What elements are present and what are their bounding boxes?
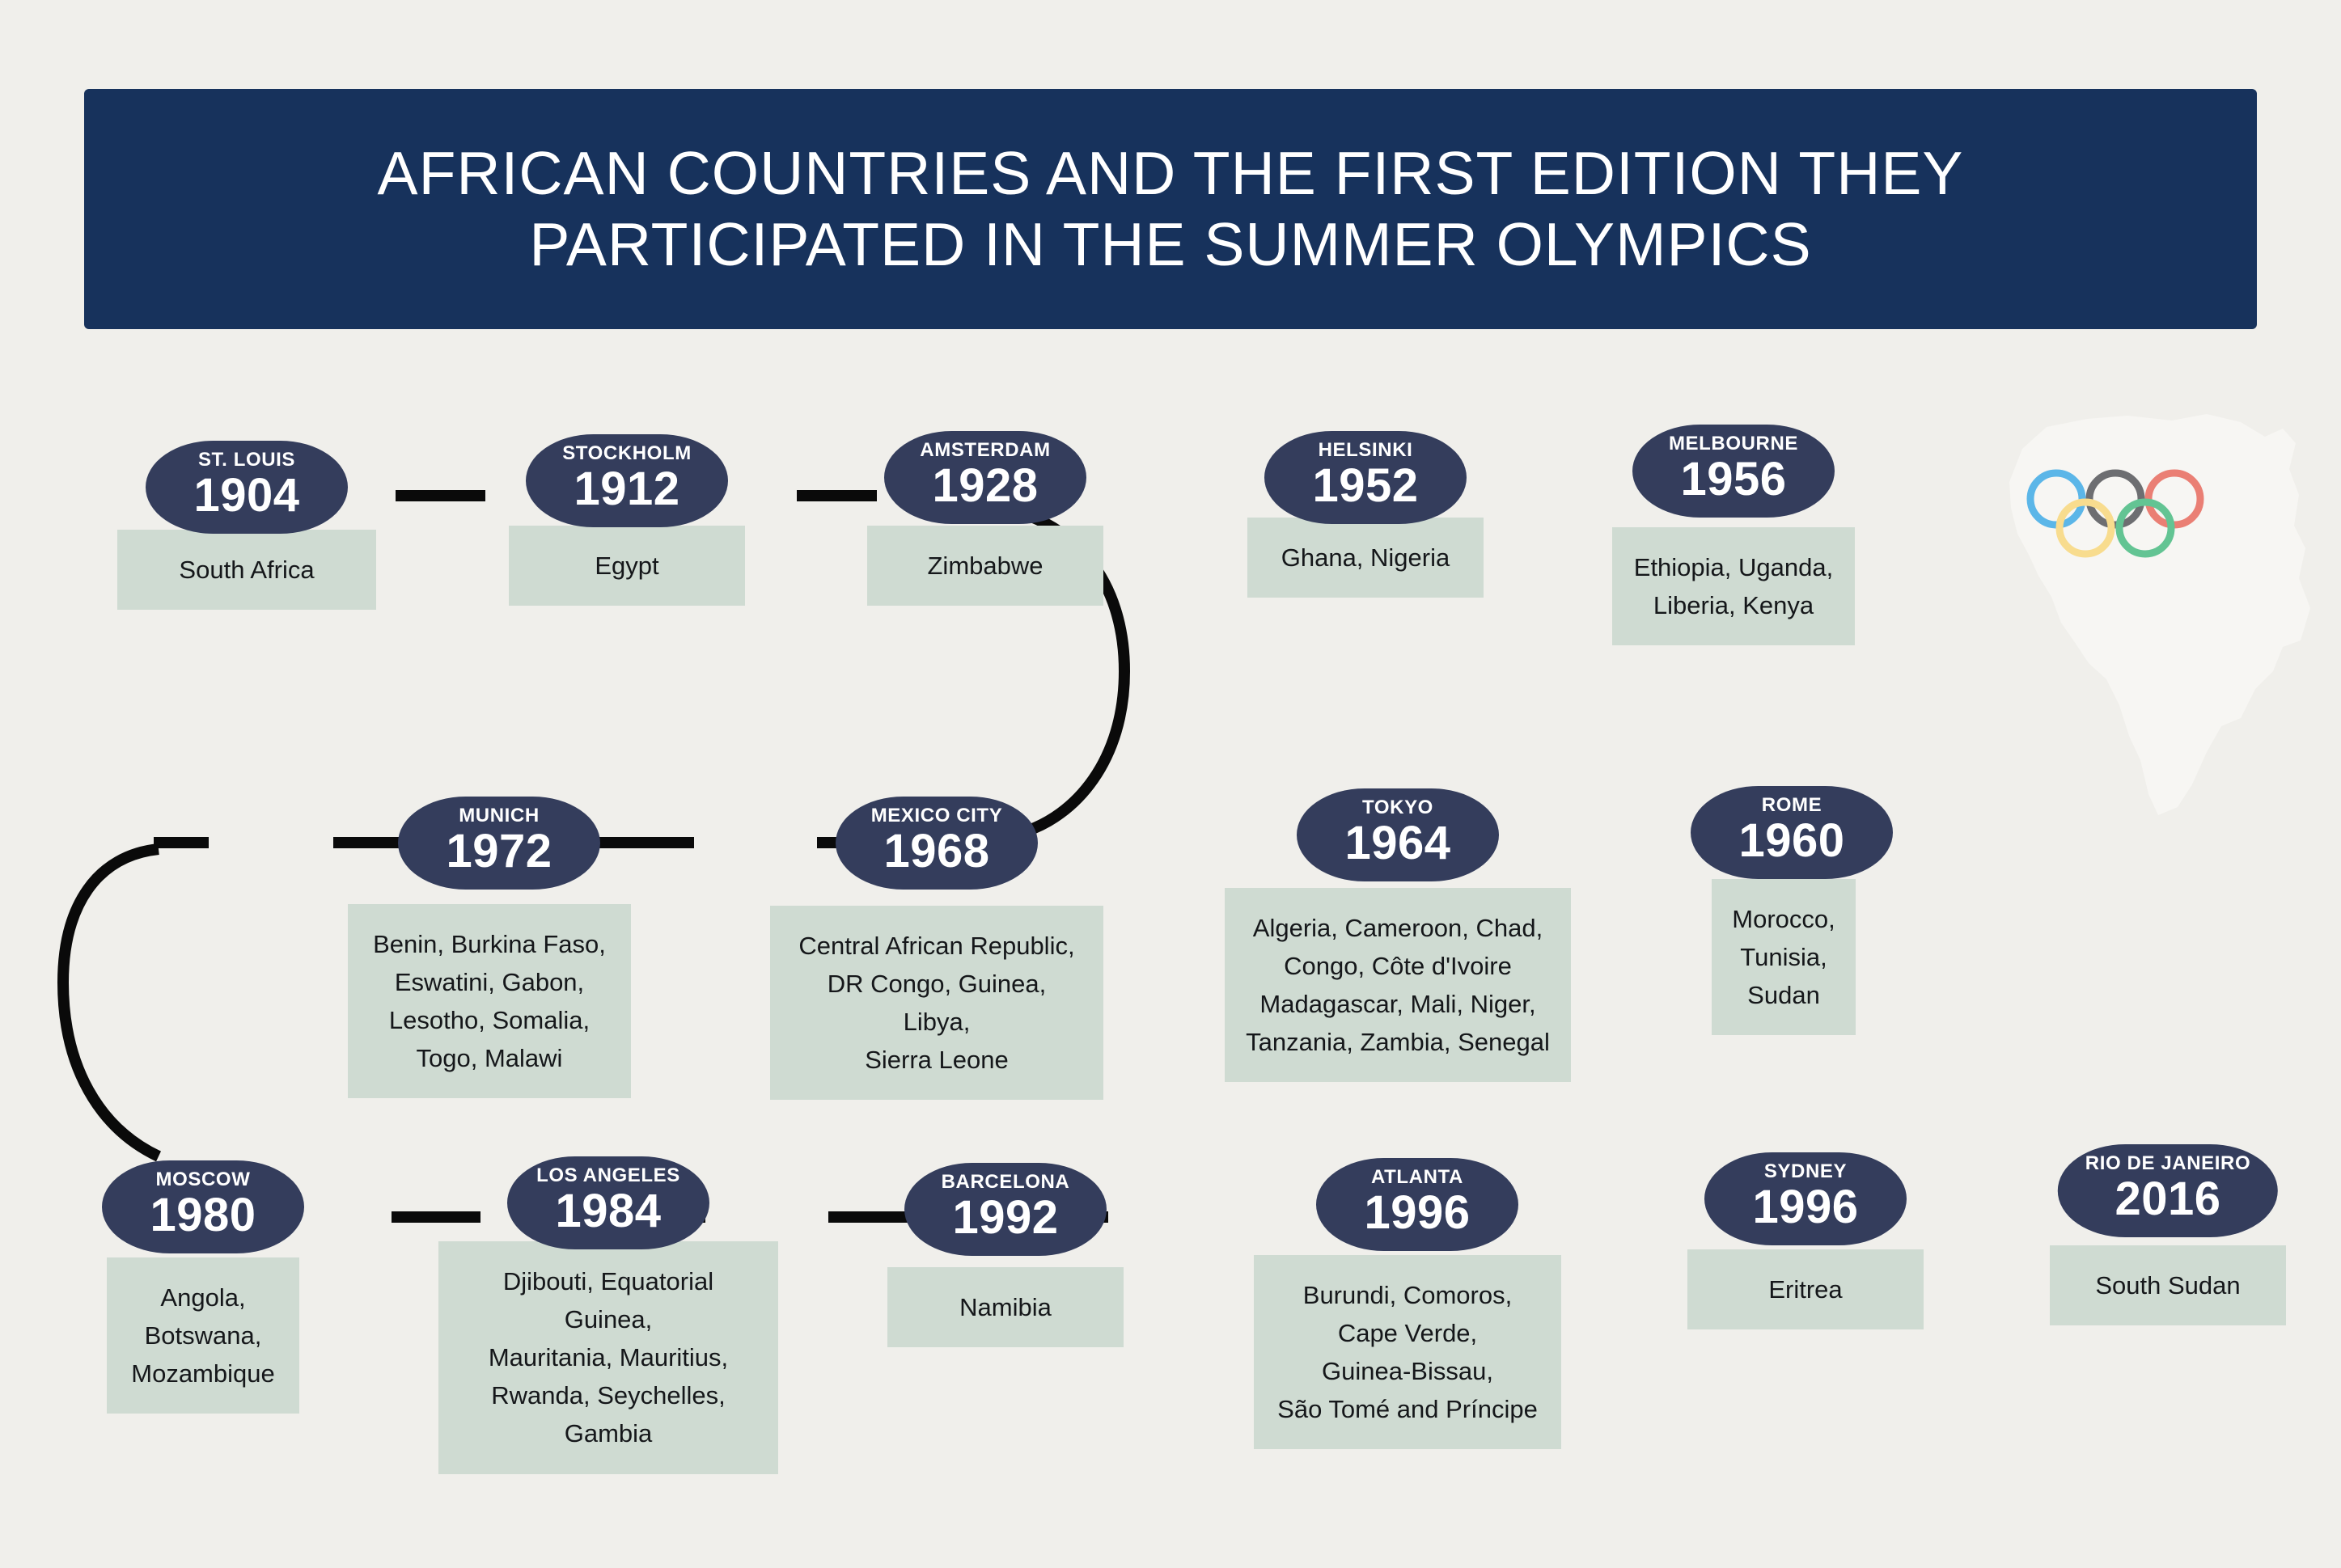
node-pill[interactable]: RIO DE JANEIRO 2016 — [2058, 1144, 2278, 1237]
node-pill[interactable]: MOSCOW 1980 — [102, 1160, 304, 1253]
node-pill[interactable]: ATLANTA 1996 — [1316, 1158, 1518, 1251]
node-pill[interactable]: MELBOURNE 1956 — [1632, 425, 1835, 518]
node-year-label: 1968 — [883, 828, 989, 875]
country-list-mexico-city: Central African Republic, DR Congo, Guin… — [770, 906, 1103, 1100]
olympic-rings-icon — [2026, 465, 2225, 562]
node-year-label: 2016 — [2115, 1176, 2220, 1223]
timeline-node-munich[interactable]: MUNICH 1972 — [398, 797, 600, 890]
node-pill[interactable]: ST. LOUIS 1904 — [146, 441, 348, 534]
country-list-melbourne: Ethiopia, Uganda, Liberia, Kenya — [1612, 527, 1855, 645]
node-pill[interactable]: AMSTERDAM 1928 — [884, 431, 1086, 524]
node-pill[interactable]: MUNICH 1972 — [398, 797, 600, 890]
timeline-node-stockholm[interactable]: STOCKHOLM 1912 — [526, 434, 728, 527]
country-list-munich: Benin, Burkina Faso, Eswatini, Gabon, Le… — [348, 904, 631, 1098]
node-pill[interactable]: SYDNEY 1996 — [1704, 1152, 1907, 1245]
node-city-label: MUNICH — [459, 806, 540, 826]
node-year-label: 1972 — [446, 828, 552, 875]
node-year-label: 1996 — [1364, 1190, 1470, 1236]
node-city-label: ATLANTA — [1371, 1168, 1463, 1187]
timeline-node-melbourne[interactable]: MELBOURNE 1956 — [1632, 425, 1835, 518]
country-list-tokyo: Algeria, Cameroon, Chad, Congo, Côte d'I… — [1225, 888, 1571, 1082]
timeline-node-amsterdam[interactable]: AMSTERDAM 1928 — [884, 431, 1086, 524]
node-city-label: HELSINKI — [1319, 441, 1413, 460]
country-list-los-angeles: Djibouti, Equatorial Guinea, Mauritania,… — [438, 1241, 778, 1474]
timeline-node-helsinki[interactable]: HELSINKI 1952 — [1264, 431, 1467, 524]
infographic-canvas: AFRICAN COUNTRIES AND THE FIRST EDITION … — [0, 0, 2341, 1568]
timeline-node-los-angeles[interactable]: LOS ANGELES 1984 — [507, 1156, 709, 1249]
node-year-label: 1980 — [150, 1192, 256, 1239]
node-year-label: 1928 — [932, 463, 1038, 509]
node-pill[interactable]: TOKYO 1964 — [1297, 788, 1499, 881]
country-list-amsterdam: Zimbabwe — [867, 526, 1103, 606]
timeline-node-rio-de-janeiro[interactable]: RIO DE JANEIRO 2016 — [2058, 1144, 2278, 1237]
timeline-node-atlanta[interactable]: ATLANTA 1996 — [1316, 1158, 1518, 1251]
node-year-label: 1952 — [1312, 463, 1418, 509]
node-city-label: TOKYO — [1362, 798, 1433, 818]
node-pill[interactable]: BARCELONA 1992 — [904, 1163, 1107, 1256]
timeline-node-sydney[interactable]: SYDNEY 1996 — [1704, 1152, 1907, 1245]
node-city-label: ST. LOUIS — [198, 450, 295, 470]
timeline-node-mexico-city[interactable]: MEXICO CITY 1968 — [836, 797, 1038, 890]
node-year-label: 1960 — [1738, 818, 1844, 864]
node-city-label: LOS ANGELES — [536, 1166, 680, 1186]
node-city-label: SYDNEY — [1764, 1162, 1847, 1181]
node-year-label: 1992 — [952, 1194, 1058, 1241]
node-city-label: RIO DE JANEIRO — [2085, 1154, 2250, 1173]
node-year-label: 1984 — [555, 1188, 661, 1235]
page-title: AFRICAN COUNTRIES AND THE FIRST EDITION … — [378, 138, 1964, 281]
country-list-moscow: Angola, Botswana, Mozambique — [107, 1257, 299, 1414]
country-list-rome: Morocco, Tunisia, Sudan — [1712, 879, 1856, 1035]
node-city-label: MELBOURNE — [1669, 434, 1798, 454]
node-pill[interactable]: LOS ANGELES 1984 — [507, 1156, 709, 1249]
country-list-st-louis: South Africa — [117, 530, 376, 610]
title-banner: AFRICAN COUNTRIES AND THE FIRST EDITION … — [84, 89, 2257, 329]
node-city-label: AMSTERDAM — [920, 441, 1050, 460]
country-list-rio-de-janeiro: South Sudan — [2050, 1245, 2286, 1325]
node-year-label: 1904 — [193, 472, 299, 519]
timeline-node-tokyo[interactable]: TOKYO 1964 — [1297, 788, 1499, 881]
country-list-atlanta: Burundi, Comoros, Cape Verde, Guinea-Bis… — [1254, 1255, 1561, 1449]
node-city-label: ROME — [1762, 796, 1822, 815]
timeline-node-barcelona[interactable]: BARCELONA 1992 — [904, 1163, 1107, 1256]
node-city-label: BARCELONA — [942, 1173, 1070, 1192]
node-city-label: MEXICO CITY — [871, 806, 1003, 826]
timeline-node-rome[interactable]: ROME 1960 — [1691, 786, 1893, 879]
timeline-node-st-louis[interactable]: ST. LOUIS 1904 — [146, 441, 348, 534]
node-pill[interactable]: HELSINKI 1952 — [1264, 431, 1467, 524]
timeline-node-moscow[interactable]: MOSCOW 1980 — [102, 1160, 304, 1253]
node-year-label: 1964 — [1344, 820, 1450, 867]
node-year-label: 1996 — [1752, 1184, 1858, 1231]
node-year-label: 1956 — [1680, 456, 1786, 503]
node-city-label: MOSCOW — [156, 1170, 251, 1190]
country-list-sydney: Eritrea — [1687, 1249, 1924, 1329]
country-list-helsinki: Ghana, Nigeria — [1247, 518, 1484, 598]
node-pill[interactable]: MEXICO CITY 1968 — [836, 797, 1038, 890]
node-pill[interactable]: STOCKHOLM 1912 — [526, 434, 728, 527]
node-year-label: 1912 — [574, 466, 679, 513]
country-list-barcelona: Namibia — [887, 1267, 1124, 1347]
node-city-label: STOCKHOLM — [562, 444, 692, 463]
country-list-stockholm: Egypt — [509, 526, 745, 606]
node-pill[interactable]: ROME 1960 — [1691, 786, 1893, 879]
